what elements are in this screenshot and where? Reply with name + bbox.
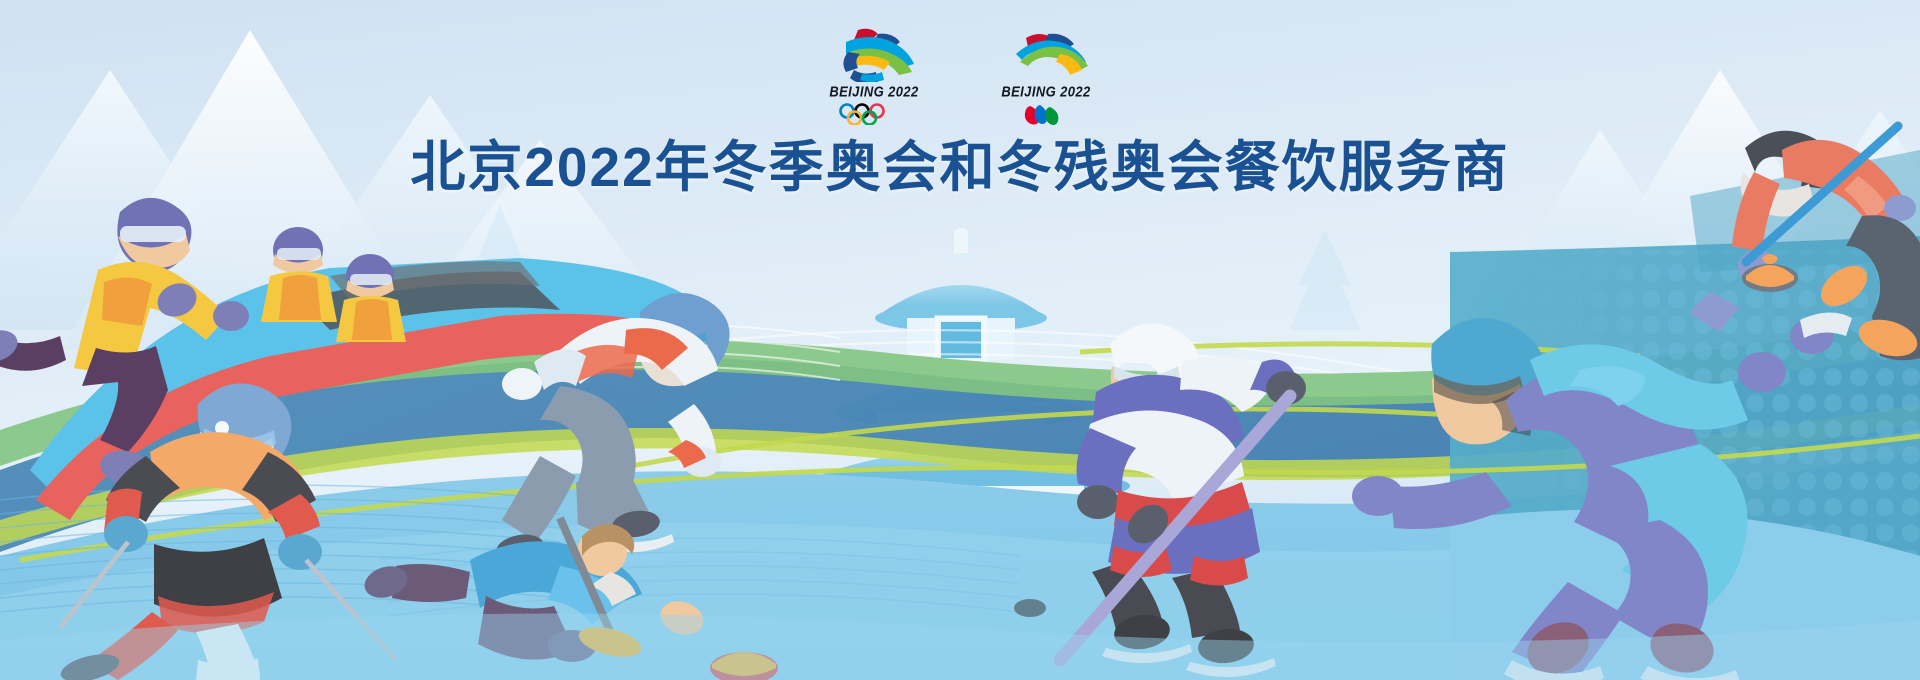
- paralympic-wordmark: BEIJING 2022: [1001, 83, 1090, 100]
- emblem-paralympic: BEIJING 2022: [994, 24, 1098, 125]
- emblem-olympic: BEIJING 2022: [822, 24, 926, 125]
- olympic-wordmark: BEIJING 2022: [829, 83, 918, 100]
- emblem-row: BEIJING 2022 BEIJING 2022: [0, 24, 1920, 125]
- olympic-emblem-mark: [828, 24, 920, 82]
- olympic-banner: BEIJING 2022 BEIJING 2022: [0, 0, 1920, 680]
- paralympic-emblem-mark: [1000, 24, 1092, 82]
- page-title: 北京2022年冬季奥会和冬残奥会餐饮服务商: [0, 122, 1920, 202]
